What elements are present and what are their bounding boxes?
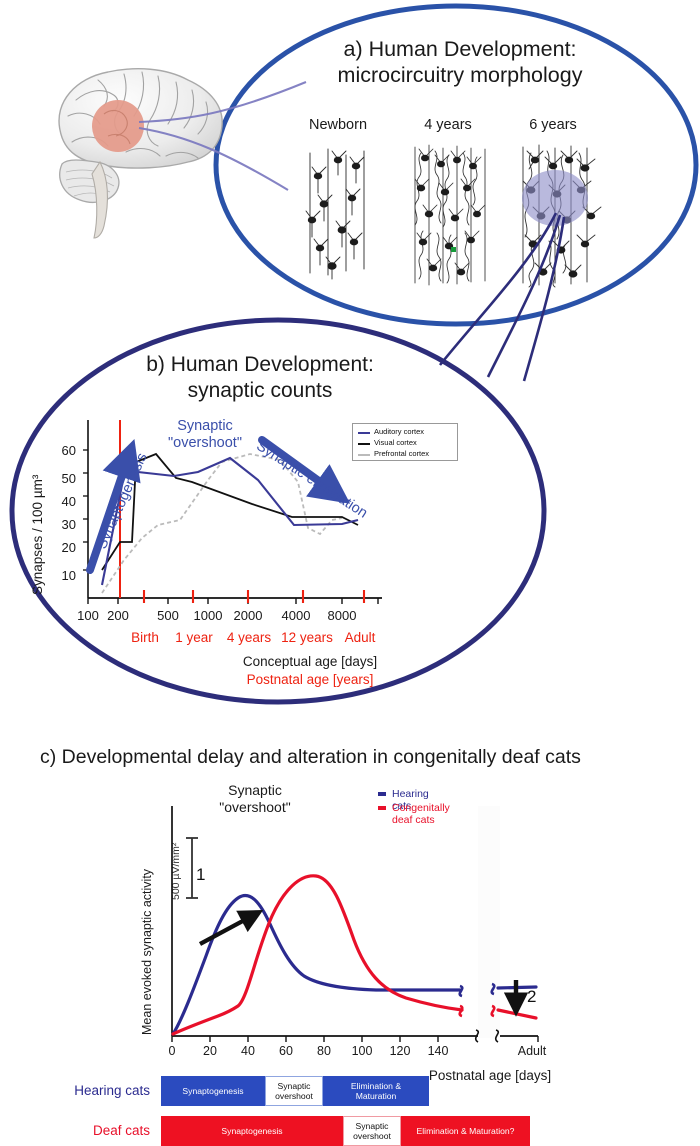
panel-b-xtick-8000: 8000	[321, 608, 363, 623]
brain-illustration	[38, 58, 253, 243]
panel-b-xtick-1000: 1000	[187, 608, 229, 623]
panel-b-ytick-50: 50	[56, 471, 76, 486]
timeline-seg-deaf-overshoot: Synaptic overshoot	[343, 1116, 401, 1146]
panel-c-y-axis-title: Mean evoked synaptic activity	[140, 869, 154, 1035]
panel-a-title: a) Human Development: microcircuitry mor…	[300, 36, 620, 88]
panel-b-xtick-500: 500	[151, 608, 185, 623]
panel-b-ytick-30: 30	[56, 517, 76, 532]
panel-c-marker-2: 2	[527, 987, 536, 1007]
panel-c-xtick-140: 140	[423, 1044, 453, 1058]
legend-swatch-prefrontal	[358, 454, 370, 456]
panel-b-title-line2: synaptic counts	[110, 378, 410, 404]
panel-c-chart	[160, 806, 560, 1056]
legend-swatch-auditory	[358, 432, 370, 434]
timeline-seg-deaf-overshoot-l1: Synaptic	[356, 1121, 389, 1131]
neurons-newborn	[298, 145, 382, 285]
panel-b-y-axis-title: Synapses / 100 µm³	[30, 475, 45, 595]
timeline-bar-deaf: Synaptogenesis Synaptic overshoot Elimin…	[161, 1116, 530, 1146]
curve-hearing-cats	[173, 896, 460, 1034]
panel-c-title: c) Developmental delay and alteration in…	[40, 746, 700, 769]
panel-c: c) Developmental delay and alteration in…	[0, 740, 700, 1126]
curve-deaf-cats-adult	[498, 1010, 536, 1018]
panel-b-ytick-10: 10	[56, 568, 76, 583]
panel-c-xtick-adult: Adult	[510, 1044, 554, 1058]
panel-b-title-line1: b) Human Development:	[110, 352, 410, 378]
panel-c-xtick-80: 80	[309, 1044, 339, 1058]
panel-b-xtick-4years: 4 years	[222, 630, 276, 645]
timeline-seg-hearing-elimination-l2: Maturation	[356, 1091, 397, 1101]
stage-label-6-years: 6 years	[505, 117, 601, 133]
panel-b: b) Human Development: synaptic counts Sy…	[0, 310, 560, 710]
panel-b-x-axis-title-red: Postnatal age [years]	[200, 672, 420, 687]
panel-c-overshoot-line1: Synaptic	[200, 782, 310, 799]
panel-c-xtick-100: 100	[347, 1044, 377, 1058]
panel-a-title-line2: microcircuitry morphology	[300, 62, 620, 88]
panel-c-xtick-60: 60	[271, 1044, 301, 1058]
panel-c-legend-swatch-hearing	[378, 792, 386, 796]
panel-b-xtick-birth: Birth	[122, 630, 168, 645]
timeline-seg-hearing-overshoot: Synaptic overshoot	[265, 1076, 323, 1106]
timeline-seg-hearing-elimination-l1: Elimination &	[351, 1081, 401, 1091]
panel-b-x-axis-title: Conceptual age [days]	[200, 654, 420, 669]
panel-a: a) Human Development: microcircuitry mor…	[0, 0, 700, 330]
legend-label-auditory: Auditory cortex	[374, 427, 424, 436]
curve-deaf-cats	[173, 876, 462, 1034]
timeline-seg-hearing-synaptogenesis: Synaptogenesis	[161, 1076, 265, 1106]
panel-c-xtick-120: 120	[385, 1044, 415, 1058]
panel-c-marker-1: 1	[196, 865, 205, 885]
timeline-seg-deaf-elimination: Elimination & Maturation?	[401, 1116, 530, 1146]
timeline-seg-hearing-elimination: Elimination & Maturation	[323, 1076, 429, 1106]
timeline-row-label-hearing: Hearing cats	[30, 1083, 150, 1098]
panel-c-xtick-20: 20	[195, 1044, 225, 1058]
panel-b-xtick-2000: 2000	[227, 608, 269, 623]
timeline-seg-deaf-overshoot-l2: overshoot	[353, 1131, 391, 1141]
panel-c-xtick-40: 40	[233, 1044, 263, 1058]
timeline-seg-deaf-synaptogenesis: Synaptogenesis	[161, 1116, 343, 1146]
timeline-seg-hearing-overshoot-l2: overshoot	[275, 1091, 313, 1101]
timeline-seg-hearing-overshoot-l1: Synaptic	[278, 1081, 311, 1091]
panel-b-overshoot-line2: "overshoot"	[152, 435, 258, 452]
legend-swatch-visual	[358, 443, 370, 445]
panel-b-ytick-20: 20	[56, 540, 76, 555]
stage-label-newborn: Newborn	[290, 117, 386, 133]
panel-b-xtick-100: 100	[71, 608, 105, 623]
panel-b-overshoot-line1: Synaptic	[152, 418, 258, 435]
timeline-bar-hearing: Synaptogenesis Synaptic overshoot Elimin…	[161, 1076, 429, 1106]
panel-b-ytick-40: 40	[56, 494, 76, 509]
legend-label-visual: Visual cortex	[374, 438, 417, 447]
panel-c-xtick-0: 0	[157, 1044, 187, 1058]
legend-label-prefrontal: Prefrontal cortex	[374, 449, 429, 458]
stage-label-4-years: 4 years	[400, 117, 496, 133]
timeline-row-label-deaf: Deaf cats	[30, 1123, 150, 1138]
panel-b-title: b) Human Development: synaptic counts	[110, 352, 410, 404]
panel-b-xtick-1year: 1 year	[170, 630, 218, 645]
panel-b-ytick-60: 60	[56, 443, 76, 458]
panel-b-xtick-adult: Adult	[338, 630, 382, 645]
panel-c-arrow-1	[200, 916, 252, 944]
panel-b-xtick-200: 200	[101, 608, 135, 623]
panel-a-title-line1: a) Human Development:	[300, 36, 620, 62]
panel-b-xtick-4000: 4000	[275, 608, 317, 623]
panel-b-legend: Auditory cortex Visual cortex Prefrontal…	[352, 423, 458, 461]
panel-b-xtick-12years: 12 years	[276, 630, 338, 645]
panel-b-overshoot-annotation: Synaptic "overshoot"	[152, 418, 258, 452]
